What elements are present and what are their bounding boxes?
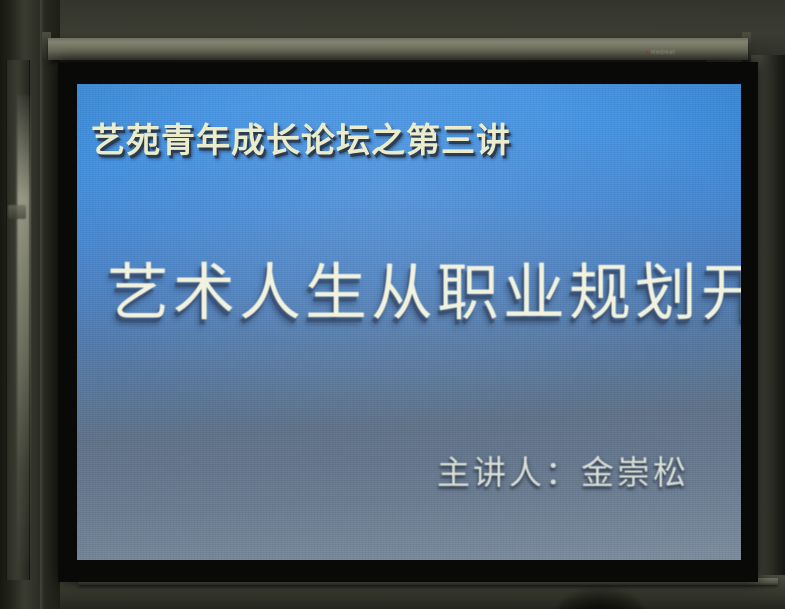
projection-screen-surface: 艺苑青年成长论坛之第三讲 艺术人生从职业规划开始 主讲人：金崇松 [77,84,741,560]
brand-logo-dot [646,51,649,54]
brand-label-text: Redleaf [651,50,675,56]
pillar-light-reflection [17,95,30,565]
slide-content: 艺苑青年成长论坛之第三讲 艺术人生从职业规划开始 主讲人：金崇松 [77,84,741,560]
classroom-photo-scene: Redleaf 艺苑青年成长论坛之第三讲 艺术人生从职业规划开始 主讲人：金崇松 [0,0,785,609]
pillar-edge [40,0,44,609]
slide-title: 艺术人生从职业规划开始 [107,262,741,324]
slide-speaker: 主讲人：金崇松 [437,456,689,489]
projection-screen-roller-housing [48,38,748,60]
wall-right-shadow [760,55,785,609]
roller-brand-label: Redleaf [646,50,675,56]
slide-subtitle: 艺苑青年成长论坛之第三讲 [91,124,511,158]
pillar-mounted-object [8,205,26,219]
left-pillar [0,0,60,609]
